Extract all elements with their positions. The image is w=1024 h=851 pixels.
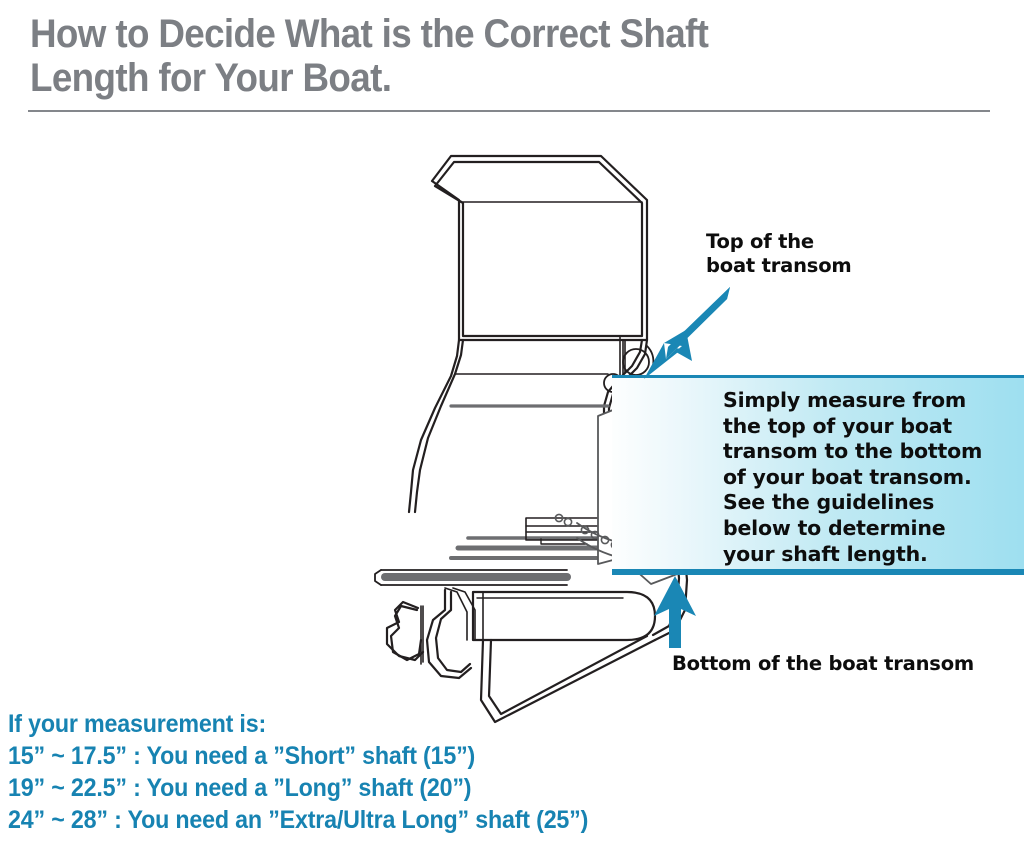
guidelines-intro: If your measurement is: (8, 708, 659, 740)
infographic-page: How to Decide What is the Correct Shaft … (0, 0, 1024, 851)
callout-bottom-border (612, 569, 1024, 575)
top-transom-label: Top of the boat transom (706, 230, 852, 278)
page-title: How to Decide What is the Correct Shaft … (30, 12, 913, 100)
callout-text: Simply measure from the top of your boat… (723, 388, 1013, 567)
guideline-extra-long: 24” ~ 28” : You need an ”Extra/Ultra Lon… (8, 804, 659, 836)
title-divider (28, 110, 990, 112)
bottom-transom-arrow-icon (648, 576, 702, 648)
guideline-long: 19” ~ 22.5” : You need a ”Long” shaft (2… (8, 772, 659, 804)
bottom-transom-label: Bottom of the boat transom (672, 652, 974, 676)
guideline-short: 15” ~ 17.5” : You need a ”Short” shaft (… (8, 740, 659, 772)
guidelines-block: If your measurement is: 15” ~ 17.5” : Yo… (8, 708, 708, 836)
top-transom-arrow-icon (630, 285, 740, 385)
title-block: How to Decide What is the Correct Shaft … (30, 12, 990, 100)
